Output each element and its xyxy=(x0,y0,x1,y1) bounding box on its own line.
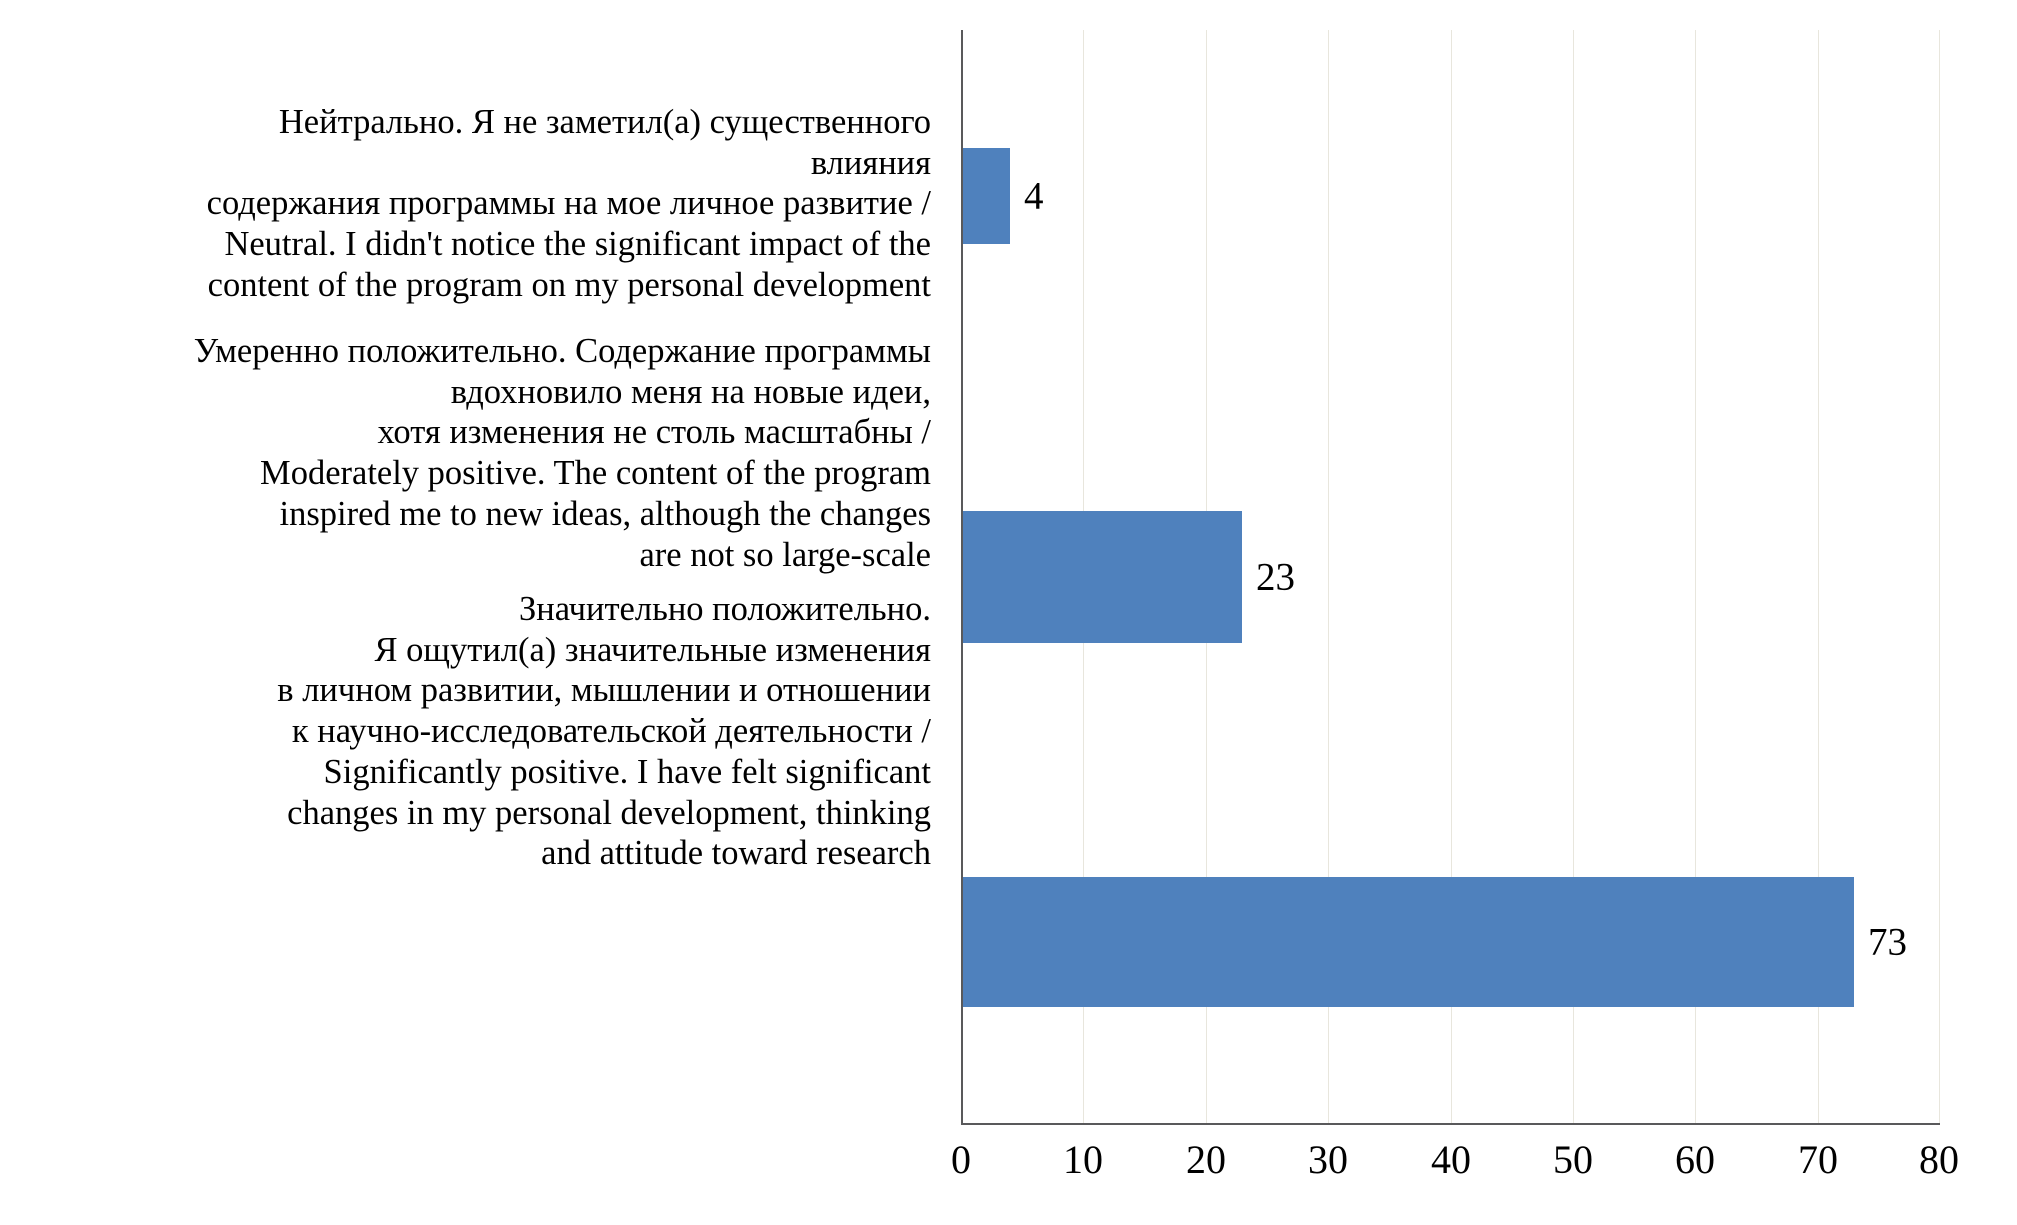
bar-neutral[interactable] xyxy=(961,148,1010,244)
category-label-significantly-positive: Значительно положительно. Я ощутил(а) зн… xyxy=(191,589,931,874)
x-tick-0: 0 xyxy=(951,1140,971,1180)
bar-moderately-positive[interactable] xyxy=(961,511,1242,643)
category-axis-line xyxy=(961,1123,1940,1125)
bar-band-3: 73 xyxy=(961,877,1940,1007)
x-tick-10: 10 xyxy=(1063,1140,1103,1180)
x-tick-20: 20 xyxy=(1186,1140,1226,1180)
bar-value-label-neutral: 4 xyxy=(1010,177,1044,216)
category-label-moderately-positive: Умеренно положительно. Содержание програ… xyxy=(191,331,931,575)
bar-band-1: 4 xyxy=(961,148,1940,244)
plot-area: 4 23 73 xyxy=(961,30,1940,1125)
bar-value-label-moderately-positive: 23 xyxy=(1242,558,1295,597)
x-tick-50: 50 xyxy=(1553,1140,1593,1180)
x-tick-70: 70 xyxy=(1798,1140,1838,1180)
x-tick-80: 80 xyxy=(1919,1140,1959,1180)
bar-band-2: 23 xyxy=(961,511,1940,643)
bar-significantly-positive[interactable] xyxy=(961,877,1854,1007)
x-tick-40: 40 xyxy=(1431,1140,1471,1180)
category-label-neutral: Нейтрально. Я не заметил(а) существенног… xyxy=(191,102,931,306)
chart-page: Нейтрально. Я не заметил(а) существенног… xyxy=(0,0,2017,1225)
value-axis-line xyxy=(961,30,963,1125)
x-tick-30: 30 xyxy=(1308,1140,1348,1180)
x-tick-60: 60 xyxy=(1675,1140,1715,1180)
bar-value-label-significantly-positive: 73 xyxy=(1854,923,1907,962)
x-axis-tick-labels: 0 10 20 30 40 50 60 70 80 xyxy=(961,1140,1940,1200)
